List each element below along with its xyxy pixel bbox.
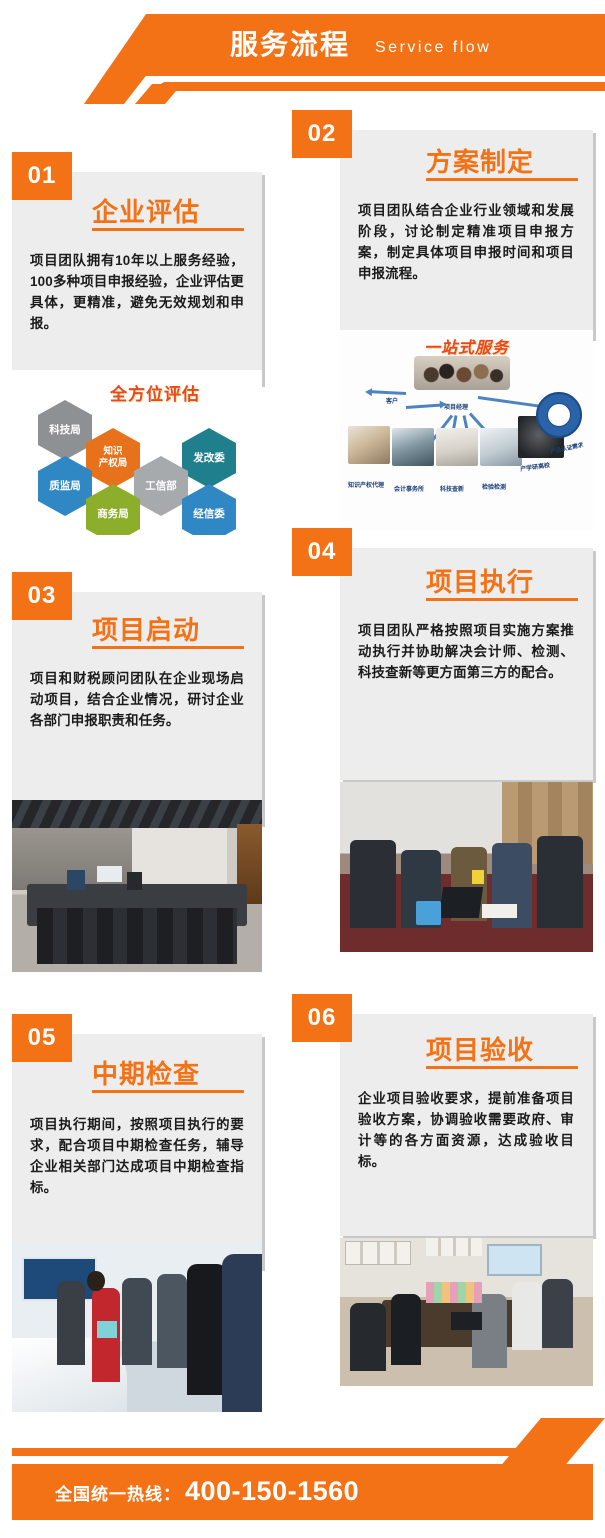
- step-badge-03: 03: [12, 572, 72, 620]
- step-title-rule-06: [426, 1066, 578, 1069]
- step-body-06: 企业项目验收要求，提前准备项目验收方案，协调验收需要政府、审计等的各方面资源，达…: [358, 1088, 574, 1172]
- step-title-rule-01: [92, 228, 244, 231]
- oss-label-3: 检验检测: [482, 482, 506, 491]
- hex-node-zhishi-chanquan-ju: 知识产权局: [86, 428, 140, 488]
- step-body-01: 项目团队拥有10年以上服务经验，100多种项目申报经验，企业评估更具体，更精准，…: [30, 250, 244, 334]
- hotline-block: 全国统一热线： 400-150-1560: [55, 1476, 359, 1507]
- oss-label-0: 知识产权代理: [348, 480, 384, 489]
- step-body-05: 项目执行期间，按照项目执行的要求，配合项目中期检查任务，辅导企业相关部门达成项目…: [30, 1114, 244, 1198]
- step-title-02: 方案制定: [426, 142, 534, 179]
- oss-thumb-ip-agency: [348, 426, 390, 464]
- footer-orange-stripe: [12, 1448, 542, 1456]
- hex-node-zhijian-ju: 质监局: [38, 456, 92, 516]
- step-badge-04: 04: [292, 528, 352, 576]
- header-orange-band: [125, 14, 605, 76]
- step-body-03: 项目和财税顾问团队在企业现场启动项目，结合企业情况，研讨企业各部门申报职责和任务…: [30, 668, 244, 731]
- step-card-01: 企业评估 项目团队拥有10年以上服务经验，100多种项目申报经验，企业评估更具体…: [12, 172, 262, 384]
- oss-label-4: 产学研高校: [520, 460, 551, 473]
- hotline-label: 全国统一热线：: [55, 1480, 181, 1505]
- step-card-03: 项目启动 项目和财税顾问团队在企业现场启动项目，结合企业情况，研讨企业各部门申报…: [12, 592, 262, 824]
- step-badge-06: 06: [292, 994, 352, 1042]
- step-body-04: 项目团队严格按照项目实施方案推动执行并协助解决会计师、检测、科技查新等更方面第三…: [358, 620, 574, 683]
- step-card-04: 项目执行 项目团队严格按照项目实施方案推动执行并协助解决会计师、检测、科技查新等…: [340, 548, 593, 780]
- photo-team-working-laptops: [340, 782, 593, 952]
- oss-label-1: 会计事务所: [394, 484, 424, 493]
- hex-node-gongxin-bu: 工信部: [134, 456, 188, 516]
- oss-thumb-accounting: [392, 428, 434, 466]
- step-card-02: 方案制定 项目团队结合企业行业领域和发展阶段，讨论制定精准项目申报方案，制定具体…: [340, 130, 593, 338]
- step-card-05: 中期检查 项目执行期间，按照项目执行的要求，配合项目中期检查任务，辅导企业相关部…: [12, 1034, 262, 1268]
- one-stop-service-client-label: 客户: [386, 396, 398, 405]
- step-body-02: 项目团队结合企业行业领域和发展阶段，讨论制定精准项目申报方案，制定具体项目申报时…: [358, 200, 574, 284]
- step-badge-05: 05: [12, 1014, 72, 1062]
- oss-certification-seal: [536, 392, 582, 438]
- step-title-01: 企业评估: [92, 192, 200, 229]
- page-footer: 全国统一热线： 400-150-1560: [0, 1418, 605, 1538]
- step-title-rule-05: [92, 1090, 244, 1093]
- oss-label-2: 科技查新: [440, 484, 464, 493]
- one-stop-service-hero-photo: [414, 356, 510, 390]
- hexagon-diagram-title: 全方位评估: [110, 380, 200, 405]
- step-title-04: 项目执行: [426, 562, 534, 599]
- step-badge-01: 01: [12, 152, 72, 200]
- step-title-rule-04: [426, 598, 578, 601]
- hex-node-keji-ju: 科技局: [38, 400, 92, 460]
- step-card-06: 项目验收 企业项目验收要求，提前准备项目验收方案，协调验收需要政府、审计等的各方…: [340, 1014, 593, 1236]
- page-header: 服务流程 Service flow: [0, 0, 605, 104]
- page-subtitle: Service flow: [375, 38, 491, 58]
- service-flow-infographic: 服务流程 Service flow 企业评估 项目团队拥有10年以上服务经验，1…: [0, 0, 605, 1538]
- hexagon-diagram-01: 全方位评估 科技局 知识产权局 发改委 质监局 工信部 商务局 经信委: [12, 370, 262, 535]
- step-title-rule-02: [426, 178, 578, 181]
- oss-thumb-tech-search: [436, 428, 478, 466]
- oss-thumb-inspection: [480, 428, 522, 466]
- photo-large-meeting-room: [340, 1238, 593, 1386]
- oss-arrow-client: [370, 390, 406, 395]
- header-orange-stripe: [150, 82, 605, 91]
- one-stop-service-diagram-02: 一站式服务 客户 项目经理 知识产权代理 会计事务所 科技查新 检验检测 产学研…: [340, 330, 593, 530]
- hex-node-fagai-wei: 发改委: [182, 428, 236, 488]
- oss-arrow-manager: [406, 403, 442, 409]
- step-badge-02: 02: [292, 110, 352, 158]
- hex-node-jingxin-wei: 经信委: [182, 484, 236, 535]
- hex-node-shangwu-ju: 商务局: [86, 484, 140, 535]
- oss-arrow-5: [478, 396, 544, 408]
- photo-conference-room-meeting: [12, 800, 262, 972]
- page-title: 服务流程: [230, 26, 350, 64]
- hotline-phone[interactable]: 400-150-1560: [185, 1476, 359, 1507]
- one-stop-service-title: 一站式服务: [340, 334, 593, 358]
- photo-showroom-visit: [12, 1244, 262, 1412]
- step-title-rule-03: [92, 646, 244, 649]
- one-stop-service-center-label: 项目经理: [444, 402, 468, 411]
- step-title-06: 项目验收: [426, 1030, 534, 1067]
- step-title-05: 中期检查: [92, 1054, 200, 1091]
- step-title-03: 项目启动: [92, 610, 200, 647]
